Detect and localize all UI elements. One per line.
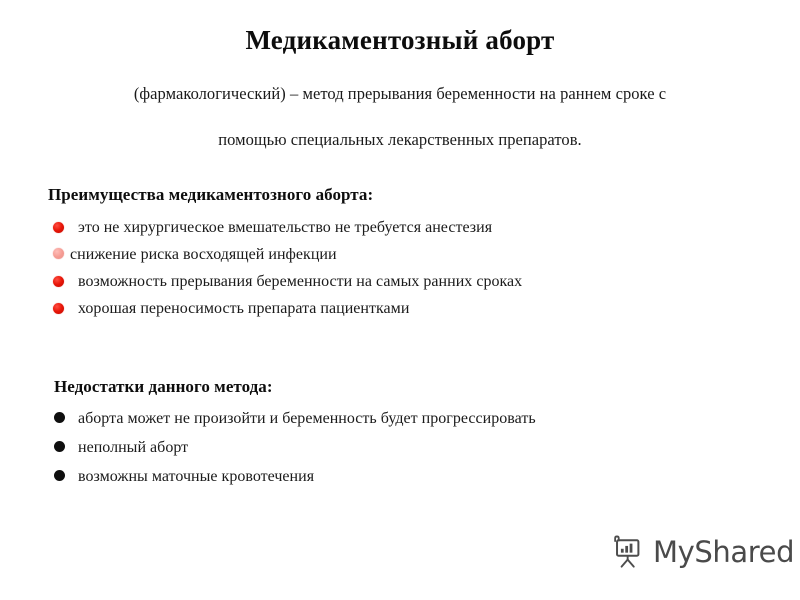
bullet-dot-icon (54, 470, 65, 481)
disadvantages-section: Недостатки данного метода: аборта может … (0, 378, 800, 485)
bullet-dot-icon (53, 276, 64, 287)
list-item: аборта может не произойти и беременность… (0, 411, 800, 427)
list-item-label: возможны маточные кровотечения (78, 468, 314, 485)
list-item: возможны маточные кровотечения (0, 469, 800, 485)
advantages-list: это не хирургическое вмешательство не тр… (0, 220, 800, 317)
list-item: неполный аборт (0, 440, 800, 456)
list-item-label: возможность прерывания беременности на с… (78, 273, 522, 290)
bullet-dot-icon (54, 441, 65, 452)
list-item-label: снижение риска восходящей инфекции (70, 246, 337, 263)
list-item: хорошая переносимость препарата пациентк… (0, 301, 800, 317)
subtitle-line-2: помощью специальных лекарственных препар… (0, 131, 800, 150)
list-item-label: аборта может не произойти и беременность… (78, 410, 536, 427)
advantages-section: Преимущества медикаментозного аборта: эт… (0, 186, 800, 317)
list-item: снижение риска восходящей инфекции (0, 247, 800, 263)
page-title: Медикаментозный аборт (0, 26, 800, 56)
subtitle-line-1: (фармакологический) – метод прерывания б… (0, 85, 800, 104)
disadvantages-heading: Недостатки данного метода: (0, 378, 800, 397)
bullet-dot-icon (53, 303, 64, 314)
advantages-heading: Преимущества медикаментозного аборта: (0, 186, 800, 205)
list-item-label: неполный аборт (78, 439, 188, 456)
list-item-label: это не хирургическое вмешательство не тр… (78, 219, 492, 236)
bullet-dot-icon (53, 222, 64, 233)
bullet-dot-icon (54, 412, 65, 423)
disadvantages-list: аборта может не произойти и беременность… (0, 411, 800, 485)
list-item: это не хирургическое вмешательство не тр… (0, 220, 800, 236)
presentation-slide: Медикаментозный аборт (фармакологический… (0, 0, 800, 600)
myshared-wordmark: MyShared (653, 538, 794, 567)
list-item-label: хорошая переносимость препарата пациентк… (78, 300, 409, 317)
list-item: возможность прерывания беременности на с… (0, 274, 800, 290)
presentation-board-chart-icon (608, 533, 646, 571)
myshared-logo: MyShared (608, 533, 794, 571)
bullet-dot-icon (53, 248, 64, 259)
